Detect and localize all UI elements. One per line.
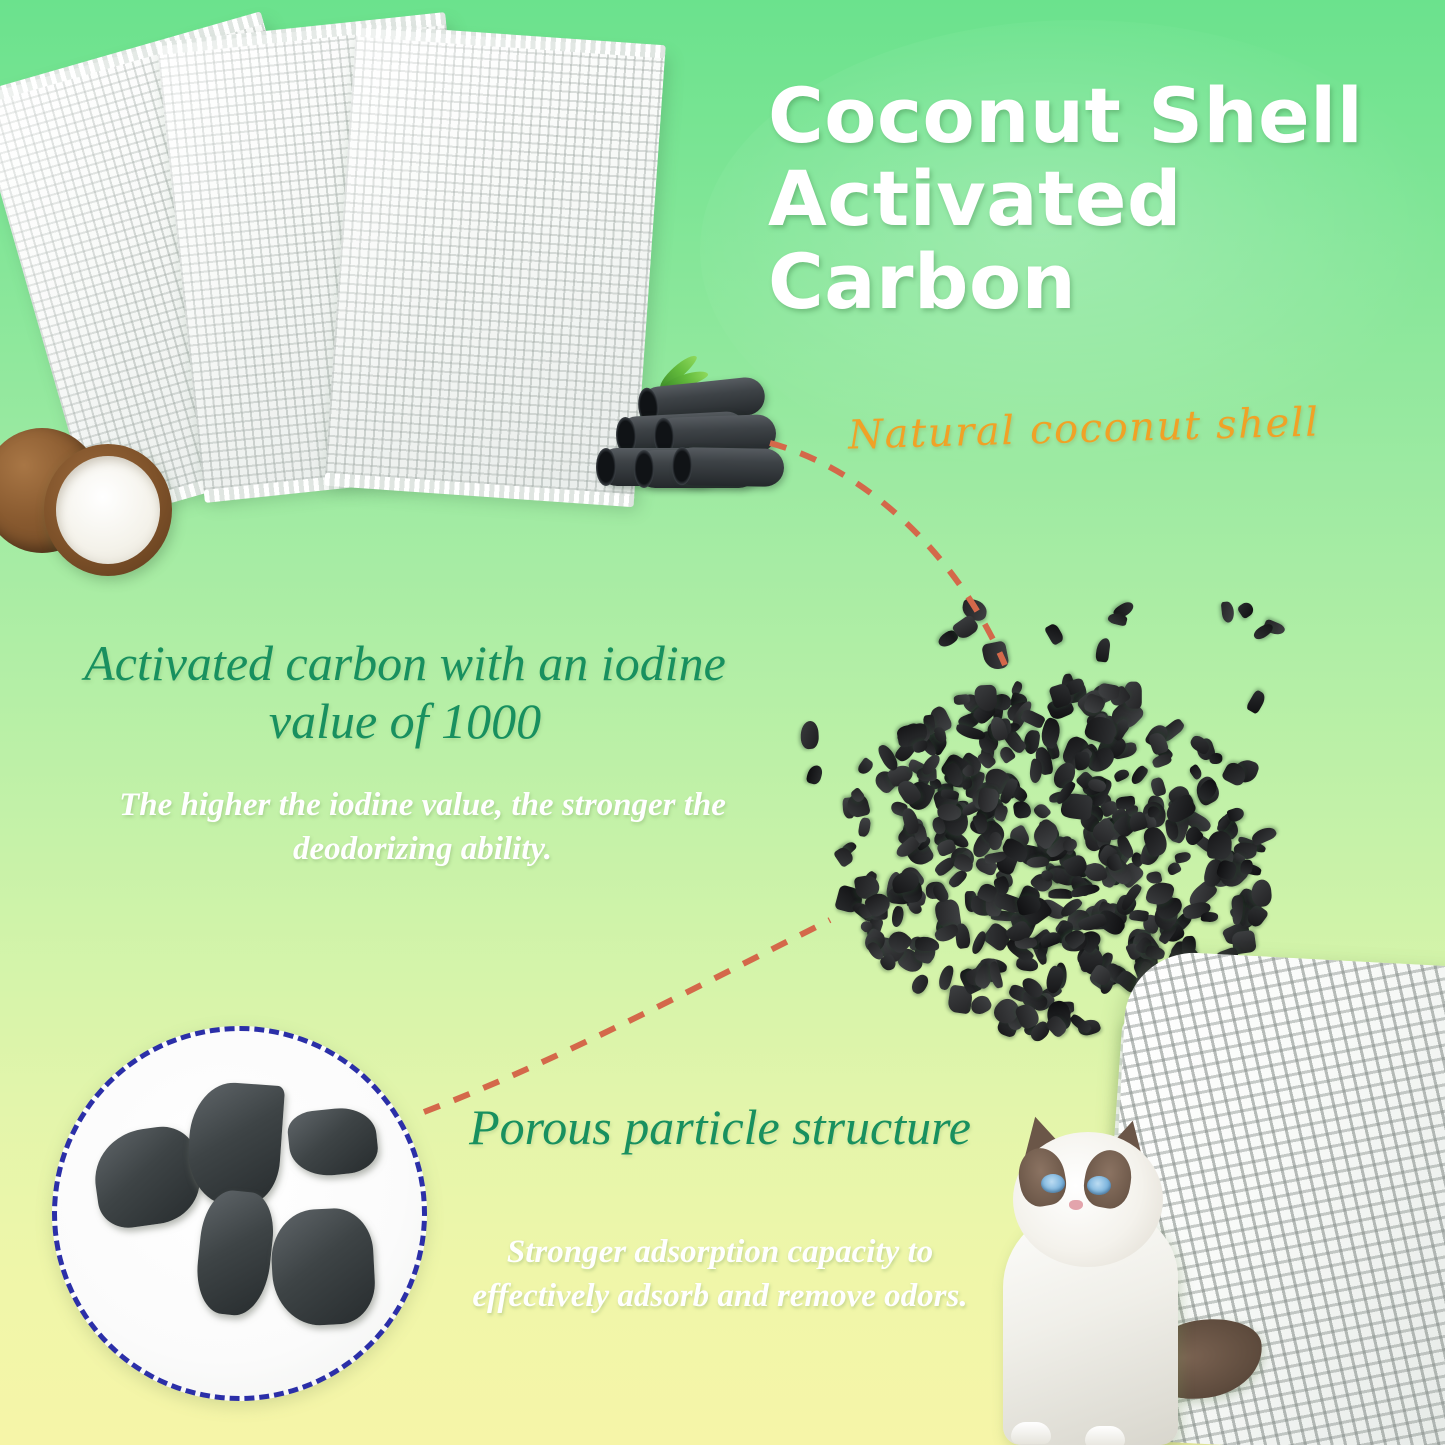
carbon-granule bbox=[1250, 825, 1278, 847]
page-title: Coconut Shell Activated Carbon bbox=[768, 74, 1428, 323]
carbon-chunk bbox=[286, 1105, 380, 1180]
carbon-granule bbox=[857, 817, 870, 837]
coconut-flesh bbox=[56, 456, 160, 564]
carbon-granule bbox=[969, 930, 988, 955]
carbon-chunks-inset bbox=[52, 1026, 427, 1401]
carbon-granule bbox=[1207, 831, 1233, 860]
charcoal-tube bbox=[674, 447, 785, 487]
cat-eye bbox=[1087, 1176, 1111, 1195]
carbon-chunk bbox=[269, 1206, 377, 1327]
carbon-granule bbox=[1147, 806, 1159, 817]
carbon-granule bbox=[805, 763, 823, 785]
coconut-image bbox=[0, 418, 172, 593]
carbon-granule bbox=[1062, 838, 1077, 851]
carbon-granule bbox=[857, 757, 875, 776]
cat-paw bbox=[1011, 1422, 1051, 1444]
carbon-granule bbox=[1129, 764, 1149, 786]
carbon-granule bbox=[919, 751, 942, 776]
mesh-bag-seam bbox=[324, 473, 634, 508]
coconut-open-half bbox=[44, 444, 172, 576]
title-line-2: Activated bbox=[768, 157, 1428, 240]
cat-eye bbox=[1041, 1174, 1065, 1193]
cat-paw bbox=[1085, 1426, 1125, 1445]
mesh-bag-seam bbox=[356, 24, 666, 59]
carbon-granule bbox=[1150, 752, 1172, 769]
title-line-3: Carbon bbox=[768, 240, 1428, 323]
carbon-granule bbox=[955, 723, 986, 742]
carbon-granule bbox=[1149, 776, 1166, 797]
carbon-chunk bbox=[193, 1188, 278, 1319]
carbon-granule bbox=[1095, 637, 1111, 662]
carbon-granule bbox=[1112, 767, 1130, 782]
section-heading-iodine: Activated carbon with an iodine value of… bbox=[45, 634, 765, 750]
carbon-granule bbox=[1044, 622, 1066, 646]
carbon-granule bbox=[1048, 889, 1073, 899]
carbon-chunk bbox=[185, 1080, 285, 1208]
title-subtitle: Natural coconut shell bbox=[847, 399, 1320, 458]
section-caption-porous: Stronger adsorption capacity to effectiv… bbox=[450, 1230, 990, 1318]
carbon-chunk bbox=[89, 1122, 205, 1232]
carbon-granule bbox=[1019, 707, 1046, 729]
carbon-granule bbox=[988, 831, 1002, 850]
carbon-granule bbox=[800, 721, 819, 749]
carbon-granule bbox=[981, 640, 1010, 671]
carbon-granule bbox=[1226, 805, 1246, 822]
title-line-1: Coconut Shell bbox=[768, 74, 1428, 157]
section-caption-iodine: The higher the iodine value, the stronge… bbox=[50, 783, 795, 871]
section-heading-porous: Porous particle structure bbox=[455, 1098, 985, 1156]
carbon-granule bbox=[1200, 911, 1218, 923]
carbon-granule bbox=[890, 905, 904, 928]
cat-nose bbox=[1069, 1200, 1083, 1210]
carbon-granule bbox=[909, 972, 930, 996]
carbon-granule bbox=[1032, 801, 1051, 820]
ragdoll-cat-image bbox=[975, 1108, 1295, 1445]
carbon-granule bbox=[1236, 600, 1256, 620]
carbon-granule bbox=[1220, 601, 1235, 623]
carbon-granule bbox=[1174, 851, 1192, 864]
carbon-granule bbox=[1012, 800, 1032, 819]
charcoal-tubes-image bbox=[598, 382, 778, 512]
carbon-granule bbox=[1209, 752, 1222, 764]
product-infographic-poster: Coconut Shell Activated Carbon Natural c… bbox=[0, 0, 1445, 1445]
dashed-connector-inset-to-granules bbox=[424, 920, 830, 1112]
carbon-granule bbox=[1245, 689, 1267, 714]
